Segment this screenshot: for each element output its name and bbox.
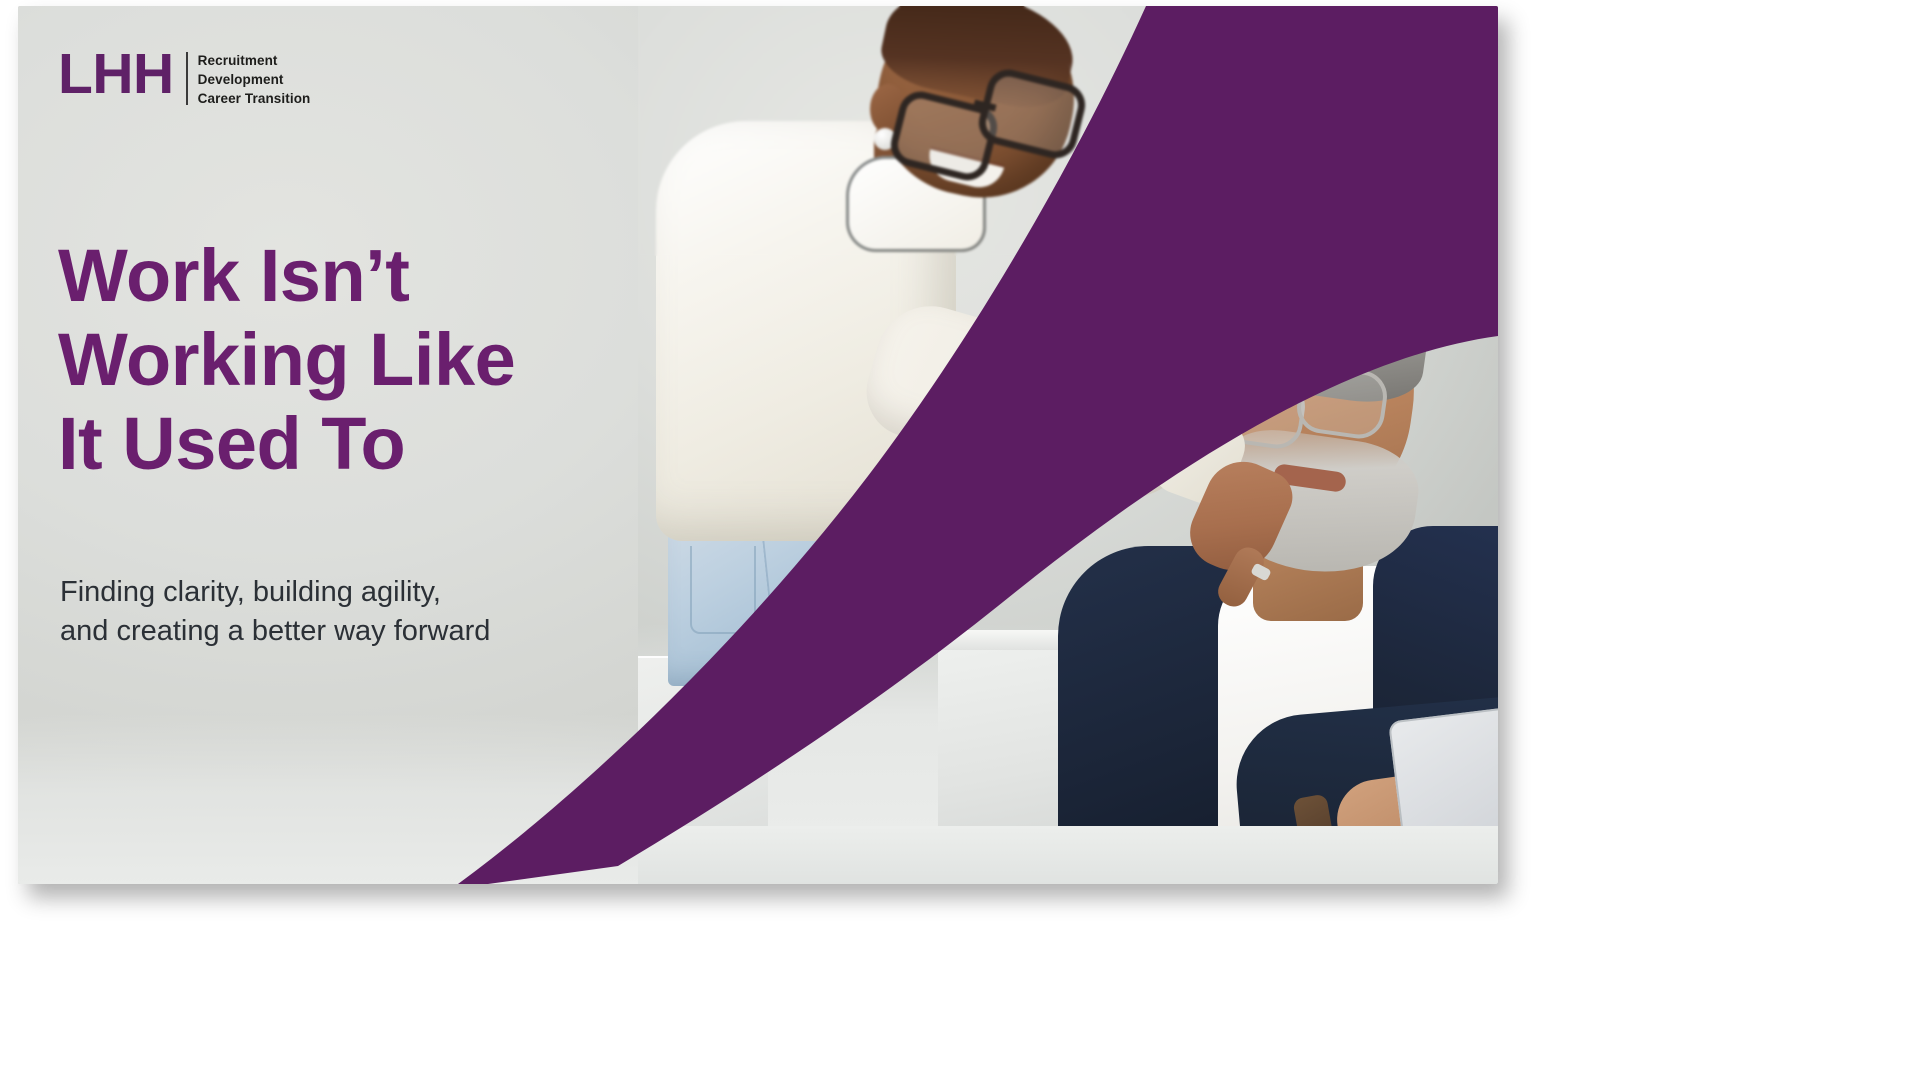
woman-jeans-pocket-left (690, 546, 756, 634)
headline-line-1: Work Isn’t (58, 234, 678, 318)
logo-tagline-development: Development (198, 71, 311, 89)
subheadline-line-2: and creating a better way forward (60, 612, 660, 651)
lhh-logo: LHH Recruitment Development Career Trans… (58, 50, 310, 107)
logo-tagline-career-transition: Career Transition (198, 90, 311, 108)
lhh-logo-wordmark: LHH (58, 50, 174, 98)
screenshot-canvas: LHH Recruitment Development Career Trans… (0, 0, 1920, 1080)
hero-photograph (638, 6, 1498, 884)
logo-tagline-group: Recruitment Development Career Transitio… (198, 50, 311, 107)
logo-tagline-recruitment: Recruitment (198, 52, 311, 70)
logo-divider-rule (186, 52, 188, 105)
desk-surface (638, 826, 1498, 884)
woman-jeans-pocket-right (762, 531, 836, 617)
headline-line-3: It Used To (58, 402, 678, 486)
subheadline-line-1: Finding clarity, building agility, (60, 573, 660, 612)
headline-line-2: Working Like (58, 318, 678, 402)
slide-subheadline: Finding clarity, building agility, and c… (60, 573, 660, 651)
slide-headline: Work Isn’t Working Like It Used To (58, 234, 678, 487)
presentation-title-slide: LHH Recruitment Development Career Trans… (18, 6, 1498, 884)
